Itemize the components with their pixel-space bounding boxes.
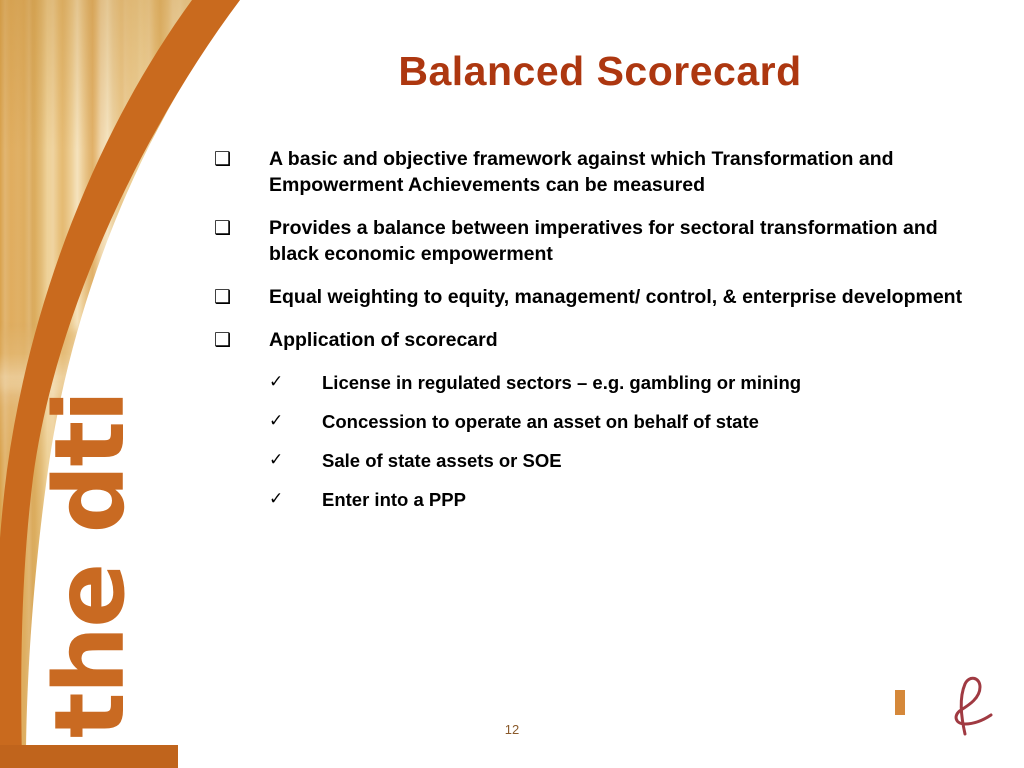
hollow-square-bullet-icon: ❑ — [212, 215, 269, 241]
orange-tick-mark-icon — [895, 690, 905, 715]
sub-bullet-item: ✓ License in regulated sectors – e.g. ga… — [267, 370, 987, 395]
checkmark-bullet-icon: ✓ — [267, 370, 322, 395]
sub-bullet-text: License in regulated sectors – e.g. gamb… — [322, 370, 987, 395]
sub-bullet-text: Enter into a PPP — [322, 487, 987, 512]
sub-bullet-text: Sale of state assets or SOE — [322, 448, 987, 473]
sub-bullet-item: ✓ Enter into a PPP — [267, 487, 987, 512]
bullet-text: Equal weighting to equity, management/ c… — [269, 284, 987, 310]
hollow-square-bullet-icon: ❑ — [212, 327, 269, 353]
presentation-slide: the dti Balanced Scorecard ❑ A basic and… — [0, 0, 1024, 768]
dti-logo: the dti — [30, 365, 150, 765]
bullet-item: ❑ Equal weighting to equity, management/… — [212, 284, 987, 310]
dti-logo-text: the dti — [42, 392, 138, 738]
checkmark-bullet-icon: ✓ — [267, 487, 322, 512]
sub-bullet-item: ✓ Sale of state assets or SOE — [267, 448, 987, 473]
page-title: Balanced Scorecard — [250, 48, 950, 95]
checkmark-bullet-icon: ✓ — [267, 448, 322, 473]
checkmark-bullet-icon: ✓ — [267, 409, 322, 434]
bullet-item: ❑ A basic and objective framework agains… — [212, 146, 987, 198]
page-number: 12 — [0, 722, 1024, 737]
slide-body: ❑ A basic and objective framework agains… — [212, 146, 987, 526]
bullet-item: ❑ Provides a balance between imperatives… — [212, 215, 987, 267]
bullet-item: ❑ Application of scorecard — [212, 327, 987, 353]
ribbon-script-mark-icon — [935, 672, 1005, 742]
hollow-square-bullet-icon: ❑ — [212, 284, 269, 310]
sub-bullet-text: Concession to operate an asset on behalf… — [322, 409, 987, 434]
dti-bottom-bar — [0, 745, 178, 768]
bullet-text: A basic and objective framework against … — [269, 146, 987, 198]
bullet-text: Application of scorecard — [269, 327, 987, 353]
bullet-text: Provides a balance between imperatives f… — [269, 215, 987, 267]
sub-bullet-list: ✓ License in regulated sectors – e.g. ga… — [267, 370, 987, 512]
sub-bullet-item: ✓ Concession to operate an asset on beha… — [267, 409, 987, 434]
hollow-square-bullet-icon: ❑ — [212, 146, 269, 172]
